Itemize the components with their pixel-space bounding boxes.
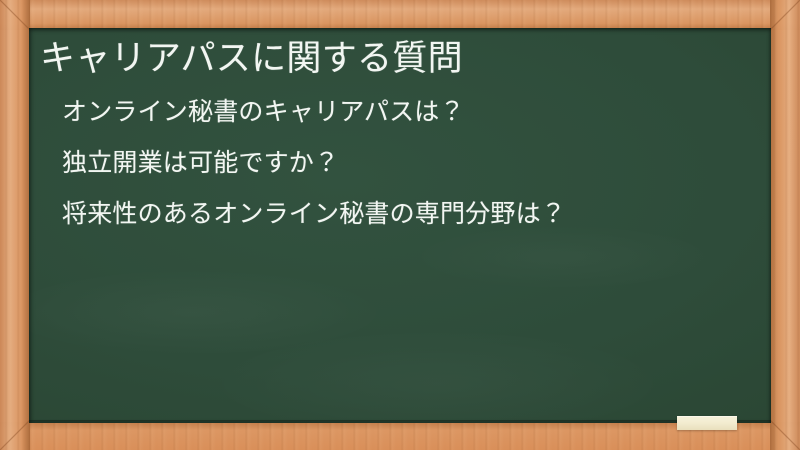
question-item-1: オンライン秘書のキャリアパスは？ [62,99,749,124]
question-list: オンライン秘書のキャリアパスは？ 独立開業は可能ですか？ 将来性のあるオンライン… [38,99,749,226]
chalkboard-surface: キャリアパスに関する質問 オンライン秘書のキャリアパスは？ 独立開業は可能ですか… [29,28,771,423]
board-content: キャリアパスに関する質問 オンライン秘書のキャリアパスは？ 独立開業は可能ですか… [29,28,771,423]
question-item-3: 将来性のあるオンライン秘書の専門分野は？ [62,201,749,226]
board-title: キャリアパスに関する質問 [38,38,749,81]
chalkboard-frame: キャリアパスに関する質問 オンライン秘書のキャリアパスは？ 独立開業は可能ですか… [0,0,800,450]
frame-rail-left [0,0,30,450]
question-item-2: 独立開業は可能ですか？ [62,150,749,175]
frame-rail-right [770,0,800,450]
chalk-stick [677,416,737,430]
frame-rail-top [0,0,800,30]
